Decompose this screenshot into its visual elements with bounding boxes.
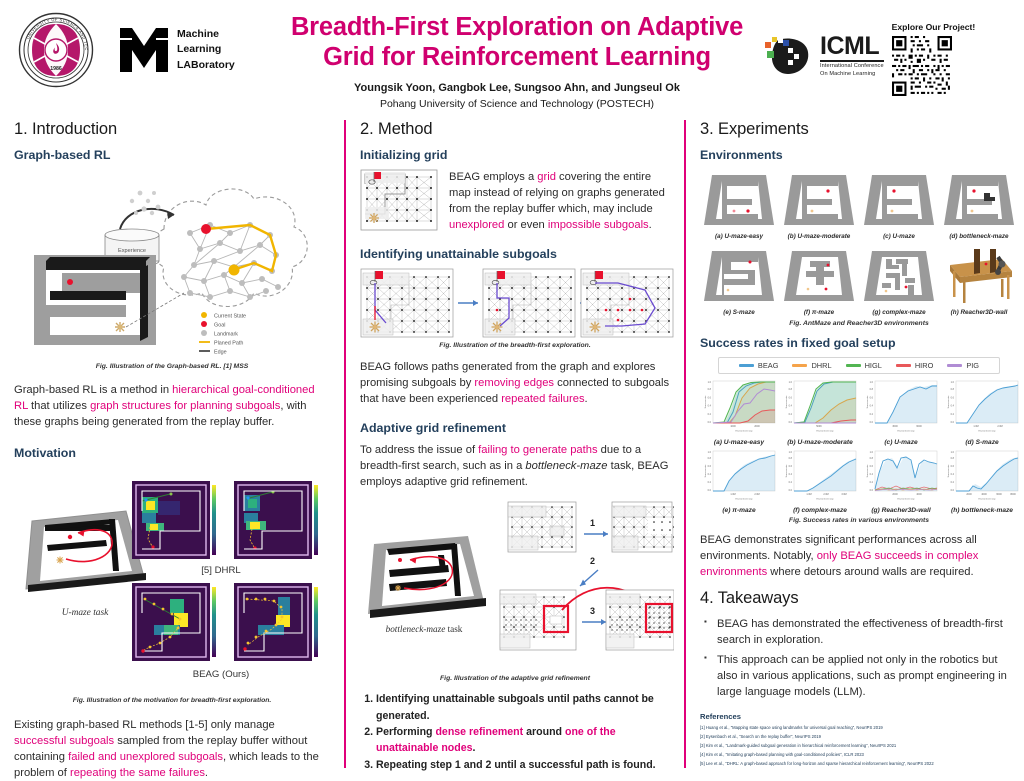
- takeaway-item-1: BEAG has demonstrated the effectiveness …: [704, 617, 1018, 648]
- icml-blob-icon: [764, 34, 816, 78]
- reference-item-5: [5] Lee et al., “DHRL: A graph-based app…: [700, 760, 1018, 769]
- chart-reacher3d-wall: 0.00.2 0.40.6 0.81.0 20004000 Success ra…: [862, 448, 940, 514]
- svg-text:0.4: 0.4: [870, 405, 874, 408]
- left-logos: 1986 UNIVERSITY OF SCIENCE AND TECHNOLOG…: [0, 0, 270, 88]
- legend-label-dhrl: DHRL: [811, 361, 831, 370]
- legend-item-pig: PIG: [947, 361, 979, 370]
- svg-text:0.0: 0.0: [951, 421, 955, 424]
- m3-text-a: To address the issue of: [360, 444, 478, 456]
- icml-sub-1: International Conference: [820, 63, 884, 71]
- svg-text:1.0: 1.0: [789, 381, 793, 384]
- m1-text-c: or even: [504, 219, 548, 231]
- svg-text:0.8: 0.8: [708, 388, 712, 391]
- chart-h-plot: 0.00.2 0.40.6 0.81.0 2000400060008000 Su…: [943, 448, 1021, 506]
- svg-text:Success rate: Success rate: [947, 464, 950, 477]
- method-steps: Identifying unattainable subgoals until …: [362, 691, 670, 773]
- svg-text:0.8: 0.8: [951, 388, 955, 391]
- method-step-2: Performing dense refinement around one o…: [376, 724, 670, 757]
- svg-text:Environment step: Environment step: [816, 498, 834, 501]
- chart-caption-a: (a) U-maze-easy: [700, 439, 778, 446]
- subheading-motivation: Motivation: [14, 446, 330, 460]
- column-method: 2. Method Initializing grid: [344, 120, 686, 768]
- env-s-maze-icon: [700, 245, 778, 307]
- mlab-line-3: LABoratory: [177, 58, 235, 73]
- reference-item-3: [3] Kim et al., “Landmark-guided subgoal…: [700, 742, 1018, 751]
- refine-step-number-1: 1: [590, 518, 595, 528]
- env-u-maze-moderate-icon: [780, 169, 858, 231]
- bottleneck-maze-3d: [368, 536, 486, 618]
- svg-text:0.4: 0.4: [789, 405, 793, 408]
- svg-text:0.6: 0.6: [870, 396, 874, 399]
- bfs-panel-1: [361, 269, 453, 337]
- affiliation: Pohang University of Science and Technol…: [270, 98, 764, 110]
- chart-b-plot: 0.00.2 0.40.6 0.81.0 500K Success rate E…: [781, 378, 859, 438]
- bottleneck-task-label: bottleneck-maze task: [386, 624, 463, 634]
- legend-color-beag: [739, 364, 754, 366]
- chart-caption-b: (b) U-maze-moderate: [781, 439, 859, 446]
- legend-item-beag: BEAG: [739, 361, 779, 370]
- env-complex-maze-icon: [860, 245, 938, 307]
- env-cell-bottleneck-maze: (d) bottleneck-maze: [940, 169, 1018, 240]
- chart-caption-f: (f) complex-maze: [781, 507, 859, 514]
- env-cell-u-maze-moderate: (b) U-maze-moderate: [780, 169, 858, 240]
- beag-label: BEAG (Ours): [193, 669, 250, 680]
- m3-hl-1: failing to generate paths: [478, 444, 597, 456]
- page-title: Breadth-First Exploration on Adaptive Gr…: [270, 12, 764, 72]
- svg-text:6000: 6000: [916, 425, 922, 428]
- reference-item-4: [4] Kim et al., “Imitating graph-based p…: [700, 751, 1018, 760]
- refine-step-number-3: 3: [590, 606, 595, 616]
- env-u-maze-icon: [860, 169, 938, 231]
- figure-caption-environments: Fig. AntMaze and Reacher3D environments: [700, 320, 1018, 327]
- chart-c-plot: 0.00.2 0.40.6 0.81.0 30006000 Success ra…: [862, 378, 940, 438]
- step2-text-b: .: [473, 742, 476, 754]
- svg-text:0.0: 0.0: [708, 421, 712, 424]
- title-line-1: Breadth-First Exploration on Adaptive: [270, 12, 764, 42]
- svg-text:4000: 4000: [916, 493, 922, 496]
- motivation-diagram: U-maze task: [14, 467, 330, 693]
- chart-u-maze-moderate: 0.00.2 0.40.6 0.81.0 500K Success rate E…: [781, 378, 859, 446]
- svg-text:0.0: 0.0: [789, 421, 793, 424]
- legend-label-pig: PIG: [966, 361, 979, 370]
- legend-color-hiro: [896, 364, 911, 366]
- chart-s-maze: 0.00.2 0.40.6 0.81.0 1.0M2.0M Success ra…: [943, 378, 1021, 446]
- env-cell-s-maze: (e) S-maze: [700, 245, 778, 316]
- svg-text:0.2: 0.2: [708, 413, 712, 416]
- chart-u-maze-easy: 0.00.2 0.40.6 0.81.0 10002000 Success ra…: [700, 378, 778, 446]
- svg-text:1.0: 1.0: [870, 451, 874, 454]
- svg-text:1000: 1000: [730, 425, 736, 428]
- step3-text: Repeating step 1 and 2 until a successfu…: [376, 759, 656, 771]
- svg-text:0.4: 0.4: [951, 473, 955, 476]
- chart-a-plot: 0.00.2 0.40.6 0.81.0 10002000 Success ra…: [700, 378, 778, 438]
- svg-text:0.8: 0.8: [789, 457, 793, 460]
- m1-text-d: .: [649, 219, 652, 231]
- qr-code-icon[interactable]: [892, 36, 952, 96]
- svg-text:0.2: 0.2: [870, 481, 874, 484]
- svg-text:0.6: 0.6: [708, 465, 712, 468]
- paragraph-initializing-grid: BEAG employs a grid covering the entire …: [449, 169, 670, 233]
- subheading-adaptive-refinement: Adaptive grid refinement: [360, 421, 670, 435]
- svg-text:0.0: 0.0: [870, 489, 874, 492]
- svg-text:Environment step: Environment step: [735, 430, 753, 433]
- m3-em: bottleneck-maze: [525, 460, 607, 472]
- refine-panel-1: [508, 502, 576, 552]
- right-logos: ICML International Conference On Machine…: [764, 0, 1024, 96]
- p2-hl-1: successful subgoals: [14, 735, 114, 747]
- mlab-text: Machine Learning LABoratory: [177, 27, 235, 73]
- figure-caption-refinement: Fig. Illustration of the adaptive grid r…: [360, 675, 670, 682]
- p2-text-d: .: [205, 767, 208, 779]
- svg-text:2000: 2000: [892, 493, 898, 496]
- subheading-graph-based-rl: Graph-based RL: [14, 148, 330, 162]
- figure-caption-graph-rl: Fig. Illustration of the Graph-based RL.…: [14, 363, 330, 370]
- m1-hl-2: unexplored: [449, 219, 504, 231]
- icml-sub-2: On Machine Learning: [820, 71, 884, 79]
- svg-text:1.0M: 1.0M: [973, 425, 978, 428]
- svg-text:0.4: 0.4: [708, 473, 712, 476]
- svg-text:3.0M: 3.0M: [841, 493, 846, 496]
- chart-e-plot: 0.00.2 0.40.6 0.81.0 1.0M2.0M Success ra…: [700, 448, 778, 506]
- legend-item-dhrl: DHRL: [792, 361, 831, 370]
- svg-text:Success rate: Success rate: [704, 464, 707, 477]
- paragraph-adaptive-refinement: To address the issue of failing to gener…: [360, 442, 670, 490]
- postech-logo: 1986 UNIVERSITY OF SCIENCE AND TECHNOLOG…: [18, 12, 94, 88]
- svg-text:8000: 8000: [1010, 493, 1016, 496]
- svg-text:4000: 4000: [981, 493, 987, 496]
- poster-header: 1986 UNIVERSITY OF SCIENCE AND TECHNOLOG…: [0, 0, 1024, 120]
- svg-text:0.2: 0.2: [708, 481, 712, 484]
- experience-label: Experience: [118, 248, 146, 254]
- svg-text:2000: 2000: [754, 425, 760, 428]
- svg-text:0.4: 0.4: [789, 473, 793, 476]
- p1-hl-2: graph structures for planning subgoals: [90, 400, 280, 412]
- env-label-a: (a) U-maze-easy: [700, 233, 778, 240]
- svg-text:0.8: 0.8: [870, 457, 874, 460]
- mlab-line-1: Machine: [177, 27, 235, 42]
- method-step-1: Identifying unattainable subgoals until …: [376, 691, 670, 724]
- chart-u-maze: 0.00.2 0.40.6 0.81.0 30006000 Success ra…: [862, 378, 940, 446]
- svg-text:500K: 500K: [816, 425, 822, 428]
- m2-hl-2: repeated failures: [501, 393, 584, 405]
- qr-label: Explore Our Project!: [892, 22, 976, 32]
- svg-text:0.2: 0.2: [870, 413, 874, 416]
- svg-text:Environment step: Environment step: [897, 498, 915, 501]
- heatmap-dhrl-2: [234, 481, 318, 559]
- section-title-experiments: 3. Experiments: [700, 120, 1018, 139]
- svg-text:3000: 3000: [892, 425, 898, 428]
- svg-text:Landmark: Landmark: [214, 332, 238, 338]
- heatmap-beag-1: [132, 583, 216, 661]
- step2-hl-1: dense refinement: [435, 726, 523, 738]
- figure-graph-based-rl: Experience: [14, 169, 330, 370]
- svg-text:Environment step: Environment step: [978, 430, 996, 433]
- svg-text:0.4: 0.4: [951, 405, 955, 408]
- legend-color-pig: [947, 364, 962, 366]
- svg-text:0.2: 0.2: [789, 481, 793, 484]
- svg-text:1.0: 1.0: [708, 451, 712, 454]
- svg-text:Success rate: Success rate: [785, 395, 788, 408]
- svg-text:2000: 2000: [966, 493, 972, 496]
- column-introduction: 1. Introduction Graph-based RL: [14, 120, 344, 768]
- mlab-logo: Machine Learning LABoratory: [118, 24, 235, 76]
- method-step-3: Repeating step 1 and 2 until a successfu…: [376, 757, 670, 773]
- charts-row-2: 0.00.2 0.40.6 0.81.0 1.0M2.0M Success ra…: [700, 448, 1018, 514]
- svg-text:2.0M: 2.0M: [754, 493, 759, 496]
- takeaway-item-2: This approach can be applied not only in…: [704, 653, 1018, 700]
- section-title-method: 2. Method: [360, 120, 670, 139]
- chart-pi-maze: 0.00.2 0.40.6 0.81.0 1.0M2.0M Success ra…: [700, 448, 778, 514]
- refine-panel-3: [500, 590, 576, 650]
- svg-text:0.8: 0.8: [789, 388, 793, 391]
- chart-f-plot: 0.00.2 0.40.6 0.81.0 1.0M2.0M3.0M Succes…: [781, 448, 859, 506]
- legend-item-hiro: HIRO: [896, 361, 933, 370]
- m1-text-a: BEAG employs a: [449, 171, 537, 183]
- env-label-f: (f) π-maze: [780, 309, 858, 316]
- svg-text:Environment step: Environment step: [897, 430, 915, 433]
- svg-text:Success rate: Success rate: [704, 395, 707, 408]
- env-reacher3d-wall-icon: [940, 245, 1018, 307]
- initializing-grid-row: BEAG employs a grid covering the entire …: [360, 169, 670, 233]
- env-label-c: (c) U-maze: [860, 233, 938, 240]
- env-pi-maze-icon: [780, 245, 858, 307]
- refinement-diagram: bottleneck-maze task: [360, 498, 674, 673]
- dhrl-label: [5] DHRL: [201, 565, 241, 576]
- svg-text:Success rate: Success rate: [947, 395, 950, 408]
- legend-color-dhrl: [792, 364, 807, 366]
- column-experiments: 3. Experiments Environments (a) U-maze-e…: [686, 120, 1018, 768]
- subheading-initializing-grid: Initializing grid: [360, 148, 670, 162]
- env-bottleneck-maze-icon: [940, 169, 1018, 231]
- env-label-e: (e) S-maze: [700, 309, 778, 316]
- seal-year-text: 1986: [50, 66, 62, 72]
- title-block: Breadth-First Exploration on Adaptive Gr…: [270, 0, 764, 110]
- m1-hl-1: grid: [537, 171, 556, 183]
- m1-hl-3: impossible subgoals: [548, 219, 649, 231]
- icml-text: ICML International Conference On Machine…: [820, 34, 884, 78]
- p1-text-b: that utilizes: [28, 400, 90, 412]
- svg-text:2.0M: 2.0M: [997, 425, 1002, 428]
- svg-text:0.8: 0.8: [708, 457, 712, 460]
- svg-text:1.0: 1.0: [870, 381, 874, 384]
- env-cell-u-maze: (c) U-maze: [860, 169, 938, 240]
- svg-text:0.8: 0.8: [870, 388, 874, 391]
- bfs-diagram: [360, 268, 674, 338]
- bfs-panel-3: [581, 269, 673, 337]
- step1-text: Identifying unattainable subgoals until …: [376, 693, 654, 721]
- svg-text:0.6: 0.6: [789, 396, 793, 399]
- m2-hl-1: removing edges: [474, 377, 554, 389]
- env-cell-reacher3d-wall: (h) Reacher3D-wall: [940, 245, 1018, 316]
- svg-text:0.2: 0.2: [951, 481, 955, 484]
- refine-step-number-2: 2: [590, 556, 595, 566]
- section-title-introduction: 1. Introduction: [14, 120, 330, 139]
- env-label-h: (h) Reacher3D-wall: [940, 309, 1018, 316]
- env-cell-complex-maze: (g) complex-maze: [860, 245, 938, 316]
- references-title: References: [700, 712, 1018, 721]
- env-label-d: (d) bottleneck-maze: [940, 233, 1018, 240]
- p1-text-a: Graph-based RL is a method in: [14, 384, 172, 396]
- svg-text:0.6: 0.6: [789, 465, 793, 468]
- step2-text-mid: around: [523, 726, 565, 738]
- section-title-takeaways: 4. Takeaways: [700, 589, 1018, 608]
- legend-item-higl: HIGL: [846, 361, 882, 370]
- chart-bottleneck-maze: 0.00.2 0.40.6 0.81.0 2000400060008000 Su…: [943, 448, 1021, 514]
- env-cell-pi-maze: (f) π-maze: [780, 245, 858, 316]
- svg-text:0.2: 0.2: [789, 413, 793, 416]
- svg-text:0.8: 0.8: [951, 457, 955, 460]
- chart-caption-c: (c) U-maze: [862, 439, 940, 446]
- svg-text:6000: 6000: [996, 493, 1002, 496]
- chart-caption-e: (e) π-maze: [700, 507, 778, 514]
- figure-caption-charts: Fig. Success rates in various environmen…: [700, 517, 1018, 524]
- svg-text:Environment step: Environment step: [735, 498, 753, 501]
- chart-caption-h: (h) bottleneck-maze: [943, 507, 1021, 514]
- refine-panel-2: [612, 502, 674, 552]
- mlab-line-2: Learning: [177, 42, 235, 57]
- svg-text:0.6: 0.6: [708, 396, 712, 399]
- graph-legend: Current State Goal Landmark Planed Path …: [199, 312, 246, 356]
- svg-text:1.0: 1.0: [789, 451, 793, 454]
- svg-text:Success rate: Success rate: [866, 395, 869, 408]
- mlab-m-icon: [118, 24, 170, 76]
- svg-text:1.0M: 1.0M: [730, 493, 735, 496]
- legend-label-hiro: HIRO: [915, 361, 933, 370]
- env-cell-u-maze-easy: (a) U-maze-easy: [700, 169, 778, 240]
- env-u-maze-easy-icon: [700, 169, 778, 231]
- takeaways-list: BEAG has demonstrated the effectiveness …: [704, 617, 1018, 700]
- charts-row-1: 0.00.2 0.40.6 0.81.0 10002000 Success ra…: [700, 378, 1018, 446]
- chart-g-plot: 0.00.2 0.40.6 0.81.0 20004000 Success ra…: [862, 448, 940, 506]
- bfs-panel-2: [483, 269, 575, 337]
- subheading-success-rates: Success rates in fixed goal setup: [700, 336, 1018, 350]
- icml-divider: [820, 60, 884, 62]
- figure-motivation: U-maze task: [14, 467, 330, 704]
- legend-color-higl: [846, 364, 861, 366]
- reference-item-2: [2] Eysenbach et al., “Search on the rep…: [700, 733, 1018, 742]
- heatmap-beag-2: [234, 583, 318, 661]
- svg-text:Current State: Current State: [214, 314, 246, 320]
- svg-text:0.0: 0.0: [789, 489, 793, 492]
- chart-complex-maze: 0.00.2 0.40.6 0.81.0 1.0M2.0M3.0M Succes…: [781, 448, 859, 514]
- figure-bfs: Fig. Illustration of the breadth-first e…: [360, 268, 670, 349]
- svg-text:Planed Path: Planed Path: [214, 341, 243, 347]
- qr-block: Explore Our Project!: [892, 22, 976, 96]
- step2-text-a: Performing: [376, 726, 435, 738]
- figure-caption-bfs: Fig. Illustration of the breadth-first e…: [360, 342, 670, 349]
- graph-based-rl-diagram: Experience: [14, 169, 330, 359]
- env-label-b: (b) U-maze-moderate: [780, 233, 858, 240]
- svg-text:0.4: 0.4: [708, 405, 712, 408]
- subheading-environments: Environments: [700, 148, 1018, 162]
- svg-text:0.4: 0.4: [870, 473, 874, 476]
- svg-text:Environment step: Environment step: [816, 430, 834, 433]
- svg-text:Success rate: Success rate: [866, 464, 869, 477]
- umaze-3d-thumb: [34, 255, 156, 345]
- icml-logo: ICML International Conference On Machine…: [764, 34, 884, 78]
- figure-refinement: bottleneck-maze task: [360, 498, 670, 682]
- environment-row-2: (e) S-maze (f) π-maze: [700, 245, 1018, 316]
- title-line-2: Grid for Reinforcement Learning: [270, 42, 764, 72]
- legend-label-higl: HIGL: [865, 361, 882, 370]
- heatmap-dhrl-1: [132, 481, 216, 559]
- chart-caption-g: (g) Reacher3D-wall: [862, 507, 940, 514]
- p2-text-a: Existing graph-based RL methods [1-5] on…: [14, 719, 275, 731]
- svg-text:1.0: 1.0: [951, 451, 955, 454]
- figure-caption-motivation: Fig. Illustration of the motivation for …: [14, 697, 330, 704]
- refine-panel-4: [606, 590, 674, 650]
- paragraph-graph-based-rl: Graph-based RL is a method in hierarchic…: [14, 382, 330, 430]
- environment-row-1: (a) U-maze-easy (b) U-maze-moderate: [700, 169, 1018, 240]
- reference-item-1: [1] Huang et al., “Mapping state space u…: [700, 724, 1018, 733]
- svg-text:Goal: Goal: [214, 323, 225, 329]
- umaze-task-3d: [26, 511, 146, 592]
- poster-columns: 1. Introduction Graph-based RL: [0, 120, 1024, 768]
- p2-hl-3: repeating the same failures: [70, 767, 205, 779]
- paragraph-results: BEAG demonstrates significant performanc…: [700, 532, 1018, 580]
- chart-d-plot: 0.00.2 0.40.6 0.81.0 1.0M2.0M Success ra…: [943, 378, 1021, 438]
- p2-hl-2: failed and unexplored subgoals: [68, 751, 223, 763]
- svg-text:0.0: 0.0: [951, 489, 955, 492]
- r-text-b: where detours around walls are required.: [767, 566, 973, 578]
- postech-seal-icon: 1986 UNIVERSITY OF SCIENCE AND TECHNOLOG…: [18, 12, 94, 88]
- chart-legend: BEAG DHRL HIGL HIRO PIG: [718, 357, 1000, 374]
- m2-text-c: .: [585, 393, 588, 405]
- svg-text:Environment step: Environment step: [978, 498, 996, 501]
- svg-text:0.6: 0.6: [951, 465, 955, 468]
- authors: Youngsik Yoon, Gangbok Lee, Sungsoo Ahn,…: [270, 82, 764, 94]
- icml-name: ICML: [820, 34, 884, 59]
- svg-text:0.6: 0.6: [951, 396, 955, 399]
- svg-text:1.0M: 1.0M: [806, 493, 811, 496]
- paragraph-identifying-subgoals: BEAG follows paths generated from the gr…: [360, 359, 670, 407]
- svg-text:0.6: 0.6: [870, 465, 874, 468]
- subheading-identifying-subgoals: Identifying unattainable subgoals: [360, 247, 670, 261]
- umaze-task-label: U-maze task: [62, 608, 109, 618]
- svg-text:0.2: 0.2: [951, 413, 955, 416]
- svg-text:2.0M: 2.0M: [823, 493, 828, 496]
- legend-label-beag: BEAG: [758, 361, 779, 370]
- svg-text:Edge: Edge: [214, 350, 227, 356]
- chart-caption-d: (d) S-maze: [943, 439, 1021, 446]
- svg-text:1.0: 1.0: [951, 381, 955, 384]
- env-label-g: (g) complex-maze: [860, 309, 938, 316]
- svg-text:0.0: 0.0: [708, 489, 712, 492]
- svg-text:Success rate: Success rate: [785, 464, 788, 477]
- svg-text:1.0: 1.0: [708, 381, 712, 384]
- paragraph-motivation: Existing graph-based RL methods [1-5] on…: [14, 717, 330, 781]
- references-block: References [1] Huang et al., “Mapping st…: [700, 712, 1018, 768]
- svg-text:0.0: 0.0: [870, 421, 874, 424]
- grid-init-figure: [360, 169, 438, 231]
